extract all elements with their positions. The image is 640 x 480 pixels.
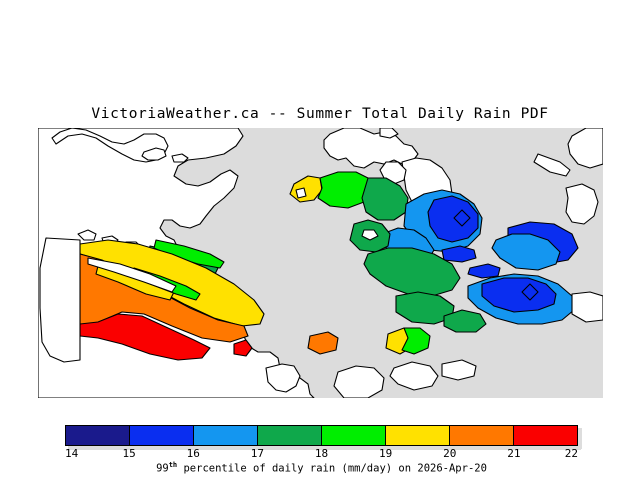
colorbar-segment-18-19[interactable] bbox=[322, 426, 386, 445]
colorbar-tick-labels: 14 15 16 17 18 19 20 21 22 bbox=[65, 447, 578, 461]
colorbar-tick-14: 14 bbox=[65, 447, 78, 460]
colorbar-tick-16: 16 bbox=[187, 447, 200, 460]
colorbar-caption-rest: percentile of daily rain (mm/day) on 202… bbox=[177, 463, 487, 475]
colorbar-caption-prefix: 99 bbox=[156, 463, 169, 475]
colorbar-segment-17-18[interactable] bbox=[258, 426, 322, 445]
colorbar-segment-19-20[interactable] bbox=[386, 426, 450, 445]
colorbar-segment-16-17[interactable] bbox=[194, 426, 258, 445]
colorbar-strip[interactable] bbox=[65, 425, 578, 446]
colorbar-segment-15-16[interactable] bbox=[130, 426, 194, 445]
region-islet-orange bbox=[308, 332, 338, 354]
colorbar-tick-18: 18 bbox=[315, 447, 328, 460]
page-root: VictoriaWeather.ca -- Summer Total Daily… bbox=[0, 0, 640, 480]
colorbar-segment-21-22[interactable] bbox=[514, 426, 577, 445]
colorbar-tick-17: 17 bbox=[251, 447, 264, 460]
map-svg bbox=[38, 128, 603, 398]
colorbar-tick-19: 19 bbox=[379, 447, 392, 460]
land-south-island-west-white bbox=[40, 238, 80, 362]
colorbar-segment-14-15[interactable] bbox=[66, 426, 130, 445]
colorbar-tick-15: 15 bbox=[122, 447, 135, 460]
page-title: VictoriaWeather.ca -- Summer Total Daily… bbox=[0, 106, 640, 122]
map-canvas bbox=[38, 128, 603, 398]
colorbar-tick-22: 22 bbox=[565, 447, 578, 460]
colorbar-shadow-right bbox=[578, 428, 582, 449]
colorbar-legend: 14 15 16 17 18 19 20 21 22 99th percenti… bbox=[65, 425, 578, 477]
colorbar-tick-21: 21 bbox=[507, 447, 520, 460]
land-south-mainland-2 bbox=[334, 366, 384, 398]
colorbar-caption: 99th percentile of daily rain (mm/day) o… bbox=[65, 461, 578, 475]
colorbar-caption-superscript: th bbox=[169, 461, 177, 469]
colorbar-tick-20: 20 bbox=[443, 447, 456, 460]
colorbar-segment-20-21[interactable] bbox=[450, 426, 514, 445]
land-notch-in-tip bbox=[296, 188, 306, 198]
